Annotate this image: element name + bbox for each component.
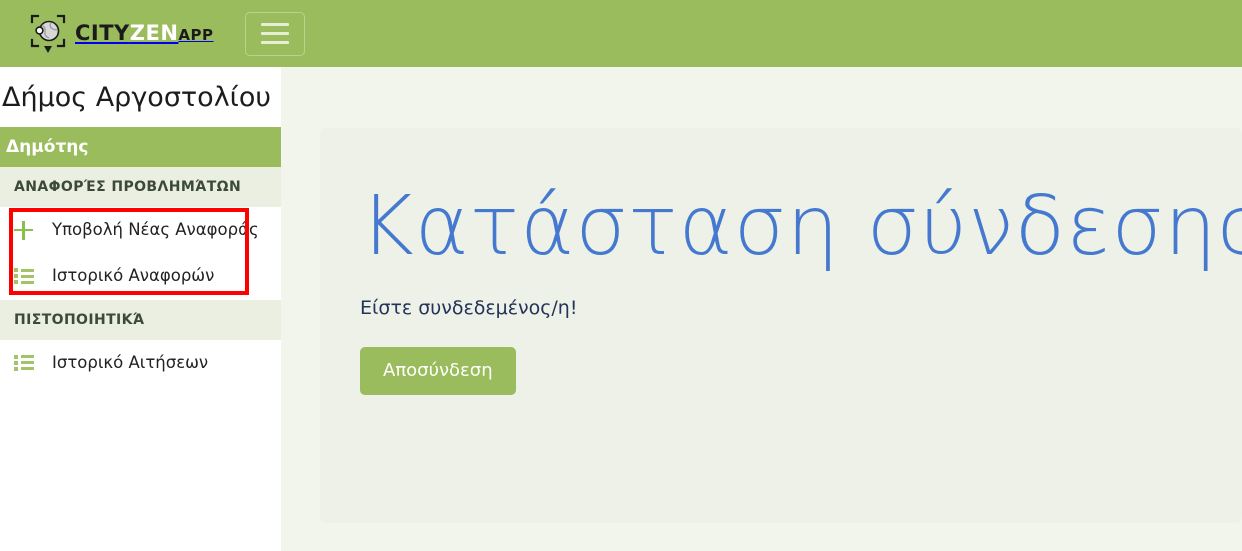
brand-text-zen: ZEN: [130, 23, 179, 44]
brand-wordmark: CITYZENAPP: [75, 23, 214, 44]
top-navbar: CITYZENAPP: [0, 0, 1242, 67]
sidebar: Δήμος Αργοστολίου Δημότης ΑΝΑΦΟΡΈΣ ΠΡΟΒΛ…: [0, 67, 281, 551]
hamburger-bar: [261, 23, 289, 26]
list-ul-icon: [14, 352, 42, 374]
cityzen-globe-pin-icon: [24, 10, 72, 58]
brand-text-app: APP: [178, 28, 213, 43]
brand-text-city: CITY: [75, 23, 130, 44]
plus-icon: [14, 219, 42, 241]
sidebar-item-label: Ιστορικό Αναφορών: [52, 265, 273, 287]
sidebar-item-label: Ιστορικό Αιτήσεων: [52, 352, 273, 374]
brand-logo-link[interactable]: CITYZENAPP: [24, 10, 214, 58]
page-title: Κατάσταση σύνδεσης: [360, 184, 1202, 269]
main-content: Κατάσταση σύνδεσης Είστε συνδεδεμένος/η!…: [281, 67, 1242, 551]
connection-status-text: Είστε συνδεδεμένος/η!: [360, 297, 1202, 319]
sidebar-item-label: Υποβολή Νέας Αναφοράς: [52, 219, 273, 241]
section-header-certificates: ΠΙΣΤΟΠΟΙΗΤΙΚΆ: [0, 300, 281, 340]
user-role-badge: Δημότης: [0, 127, 281, 167]
list-ul-icon: [14, 265, 42, 287]
sidebar-item-application-history[interactable]: Ιστορικό Αιτήσεων: [0, 340, 281, 386]
connection-status-panel: Κατάσταση σύνδεσης Είστε συνδεδεμένος/η!…: [320, 128, 1242, 523]
hamburger-menu-icon[interactable]: [245, 12, 305, 56]
hamburger-bar: [261, 41, 289, 44]
hamburger-bar: [261, 32, 289, 35]
sidebar-item-report-history[interactable]: Ιστορικό Αναφορών: [0, 253, 281, 299]
municipality-title: Δήμος Αργοστολίου: [0, 67, 281, 127]
logout-button[interactable]: Αποσύνδεση: [360, 347, 516, 395]
section-header-reports: ΑΝΑΦΟΡΈΣ ΠΡΟΒΛΗΜΆΤΩΝ: [0, 167, 281, 207]
sidebar-item-new-report[interactable]: Υποβολή Νέας Αναφοράς: [0, 207, 281, 253]
